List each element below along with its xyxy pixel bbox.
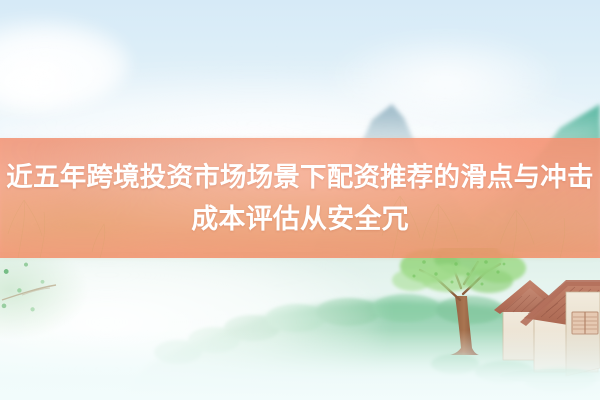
banner-image: 近五年跨境投资市场场景下配资推荐的滑点与冲击 成本评估从安全冗 bbox=[0, 0, 600, 400]
left-edge-branch bbox=[0, 276, 90, 306]
title-text-block: 近五年跨境投资市场场景下配资推荐的滑点与冲击 成本评估从安全冗 bbox=[0, 138, 600, 258]
title-line-1: 近五年跨境投资市场场景下配资推荐的滑点与冲击 bbox=[6, 157, 593, 197]
title-line-2: 成本评估从安全冗 bbox=[191, 199, 409, 239]
